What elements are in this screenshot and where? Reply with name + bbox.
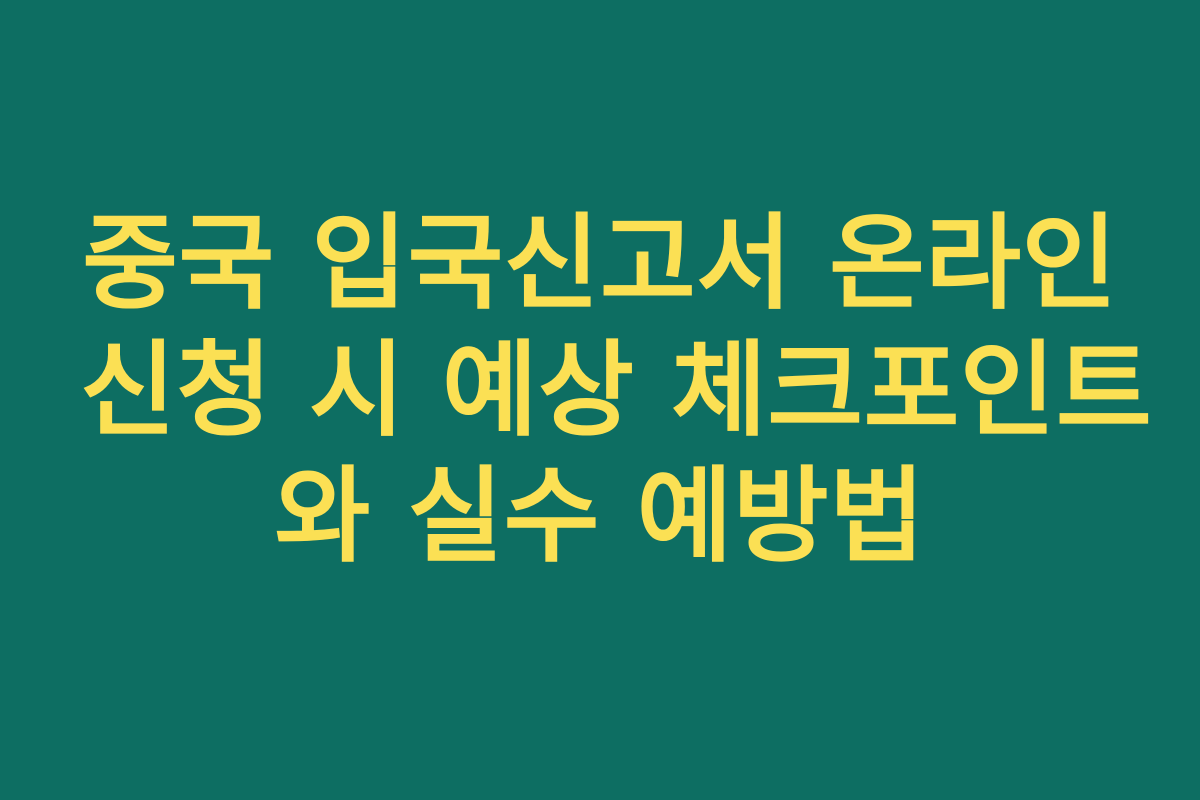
title-line-1: 중국 입국신고서 온라인 [80, 200, 1120, 327]
title-line-3: 와 실수 예방법 [80, 453, 1120, 580]
title-line-2: 신청 시 예상 체크포인트 [80, 327, 1120, 454]
title-card: 중국 입국신고서 온라인 신청 시 예상 체크포인트 와 실수 예방법 [0, 0, 1200, 800]
page-title: 중국 입국신고서 온라인 신청 시 예상 체크포인트 와 실수 예방법 [80, 200, 1120, 581]
